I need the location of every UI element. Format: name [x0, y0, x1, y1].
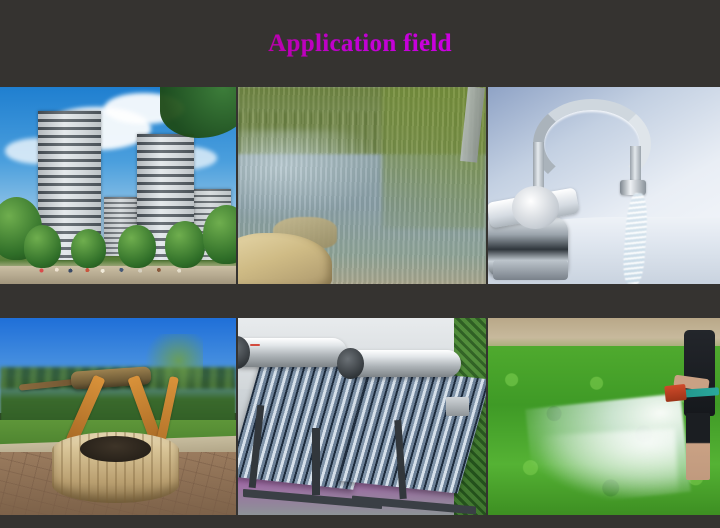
- residential-buildings-illustration: [0, 87, 236, 284]
- image-cell-agricultural-irrigation[interactable]: [488, 318, 720, 515]
- image-cell-solar-water-heater[interactable]: [238, 318, 486, 515]
- solar-heater-illustration: [238, 318, 486, 515]
- application-field-page: Application field: [0, 0, 720, 528]
- support-leg: [312, 428, 319, 495]
- faucet-base-plate: [493, 260, 569, 280]
- water-pipe: [446, 397, 468, 417]
- image-cell-tap-water[interactable]: [488, 87, 720, 284]
- image-cell-lake-reservoir[interactable]: [238, 87, 486, 284]
- page-header: Application field: [0, 0, 720, 87]
- faucet-illustration: [488, 87, 720, 284]
- water-well-illustration: [0, 318, 236, 515]
- farmer-torso: [684, 330, 715, 417]
- tree-shape: [203, 205, 236, 264]
- page-title: Application field: [268, 30, 452, 58]
- faucet-handle-knob: [512, 186, 559, 229]
- tank-brand-label: [250, 344, 261, 346]
- application-image-grid: [0, 87, 720, 515]
- foreground-canopy: [160, 87, 236, 138]
- image-cell-water-well[interactable]: [0, 318, 236, 515]
- irrigation-illustration: [488, 318, 720, 515]
- farmer-legs: [686, 413, 710, 480]
- storage-tank: [238, 338, 347, 368]
- water-spray-mist: [538, 429, 678, 503]
- well-opening: [80, 436, 151, 462]
- pedestrians: [33, 262, 203, 276]
- hose-nozzle: [664, 384, 687, 402]
- tree-shape: [165, 221, 205, 268]
- image-cell-residential-buildings[interactable]: [0, 87, 236, 284]
- lake-illustration: [238, 87, 486, 284]
